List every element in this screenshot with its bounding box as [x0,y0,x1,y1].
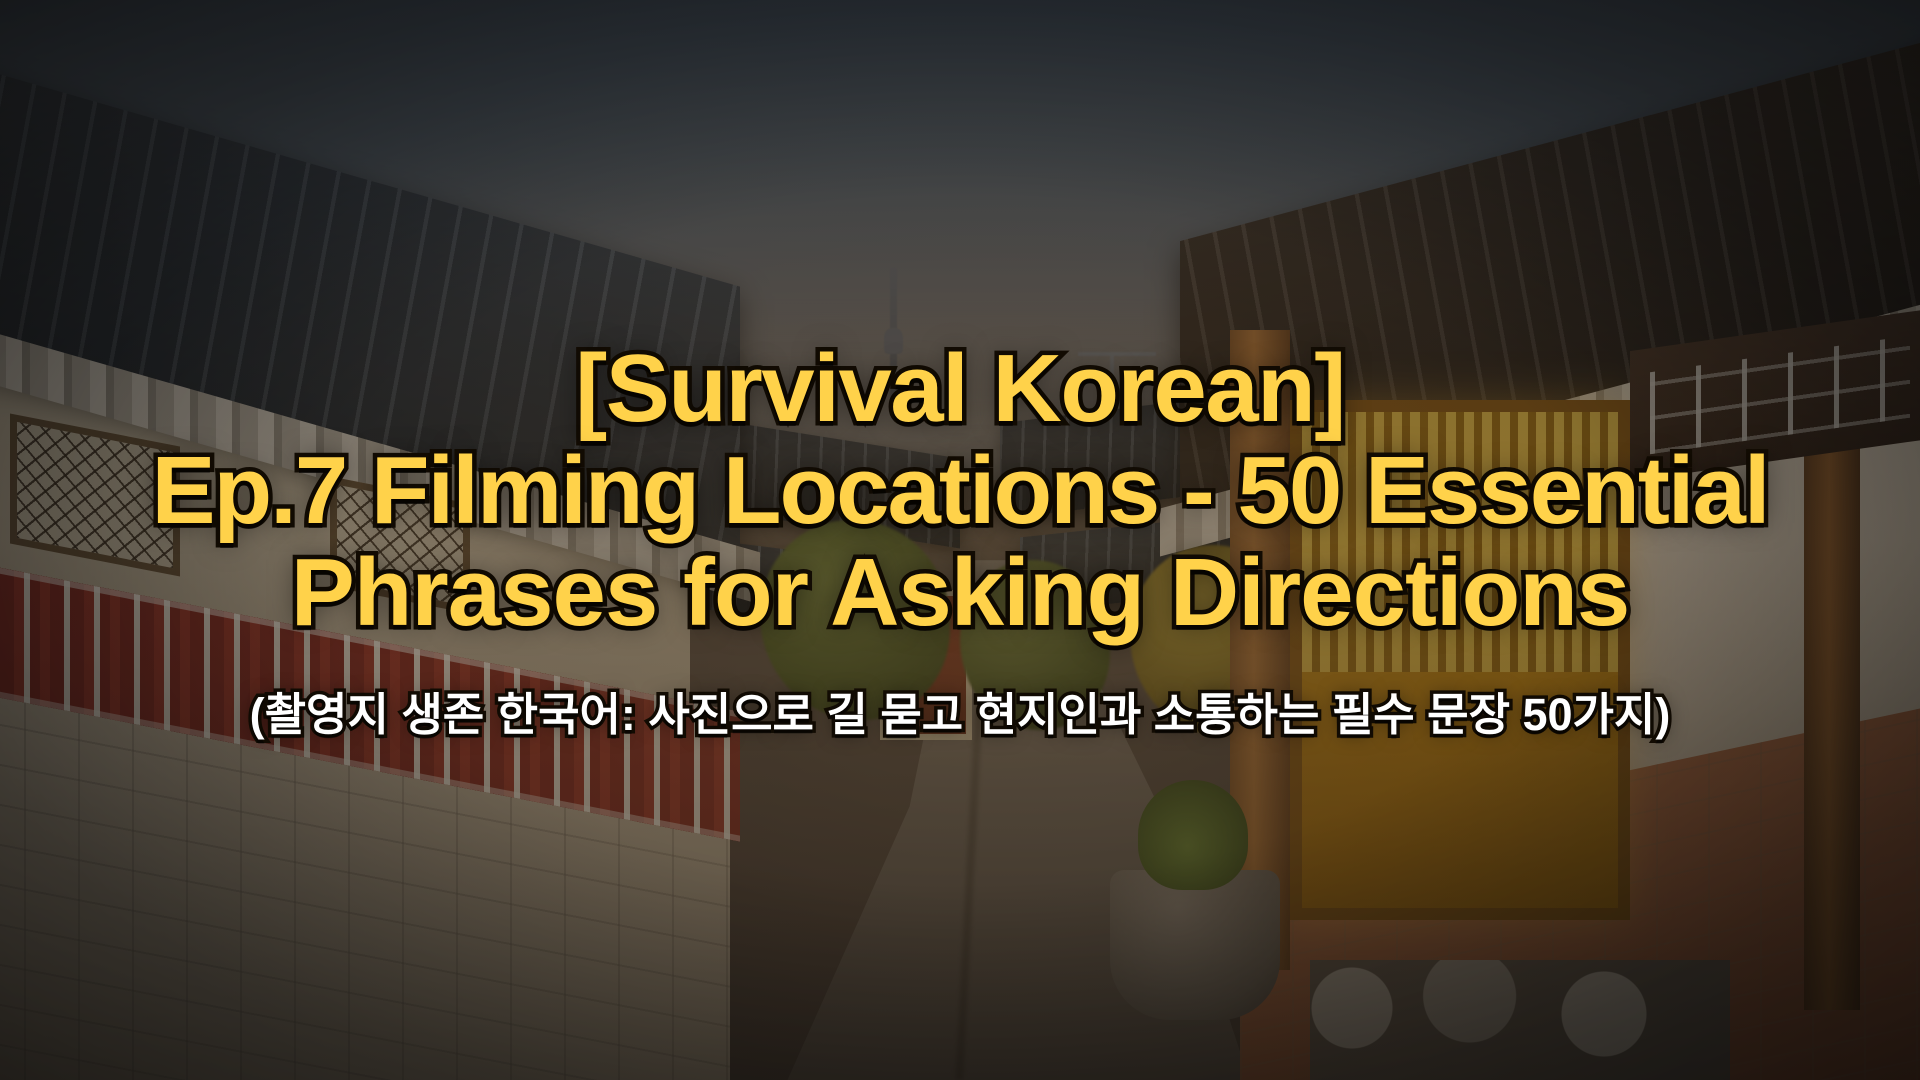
title-block: [Survival Korean] Ep.7 Filming Locations… [16,338,1904,643]
title-line-3: Phrases for Asking Directions [16,542,1904,644]
title-line-2: Ep.7 Filming Locations - 50 Essential [16,440,1904,542]
title-line-1: [Survival Korean] [16,338,1904,440]
text-overlay: [Survival Korean] Ep.7 Filming Locations… [0,0,1920,1080]
korean-subtitle: (촬영지 생존 한국어: 사진으로 길 묻고 현지인과 소통하는 필수 문장 5… [250,688,1671,742]
thumbnail-canvas: [Survival Korean] Ep.7 Filming Locations… [0,0,1920,1080]
